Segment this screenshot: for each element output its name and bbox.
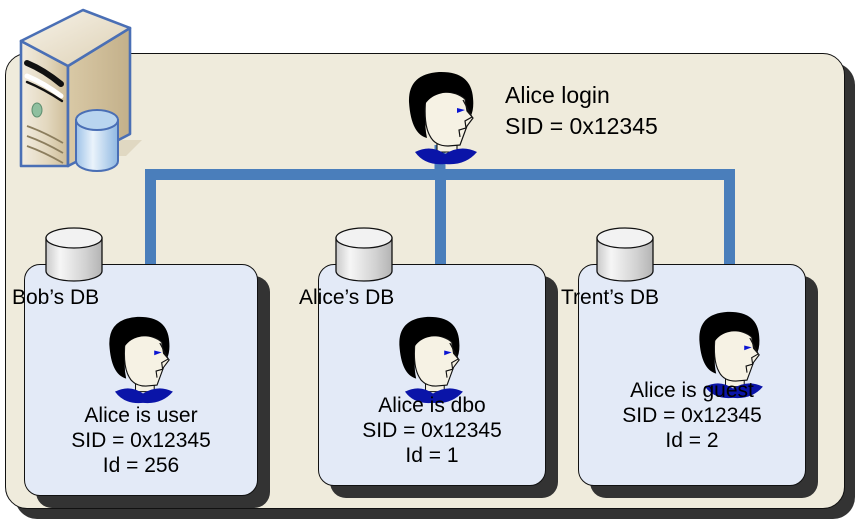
trents-db-line3: Id = 2 xyxy=(578,428,806,453)
trents-db-text-block: Alice is guest SID = 0x12345 Id = 2 xyxy=(578,378,806,453)
bobs-db-line1: Alice is user xyxy=(24,403,258,428)
server-database-cylinder xyxy=(76,110,118,171)
alices-db-text-block: Alice is dbo SID = 0x12345 Id = 1 xyxy=(318,393,546,468)
alices-db-cylinder-icon xyxy=(333,226,395,284)
login-label-block: Alice login SID = 0x12345 xyxy=(505,80,658,142)
trents-db-line2: SID = 0x12345 xyxy=(578,403,806,428)
login-person-head-profile-icon xyxy=(399,66,491,166)
alices-db-person-head-profile-icon xyxy=(390,310,476,406)
bobs-db-line2: SID = 0x12345 xyxy=(24,428,258,453)
alices-db-line2: SID = 0x12345 xyxy=(318,418,546,443)
bobs-db-text-block: Alice is user SID = 0x12345 Id = 256 xyxy=(24,403,258,478)
login-line2: SID = 0x12345 xyxy=(505,111,658,142)
diagram-canvas: Alice login SID = 0x12345 Bob’s DB xyxy=(0,0,864,529)
alices-db-label: Alice’s DB xyxy=(299,286,394,310)
trents-db-cylinder-icon xyxy=(594,226,656,284)
bobs-db-label: Bob’s DB xyxy=(12,286,99,310)
database-server-tower-icon xyxy=(8,8,148,176)
trents-db-label: Trent’s DB xyxy=(561,286,659,310)
login-line1: Alice login xyxy=(505,80,658,111)
alices-db-line3: Id = 1 xyxy=(318,443,546,468)
bobs-db-cylinder-icon xyxy=(43,226,105,284)
trents-db-line1: Alice is guest xyxy=(578,378,806,403)
bobs-db-line3: Id = 256 xyxy=(24,453,258,478)
bobs-db-person-head-profile-icon xyxy=(100,310,186,406)
alices-db-line1: Alice is dbo xyxy=(318,393,546,418)
